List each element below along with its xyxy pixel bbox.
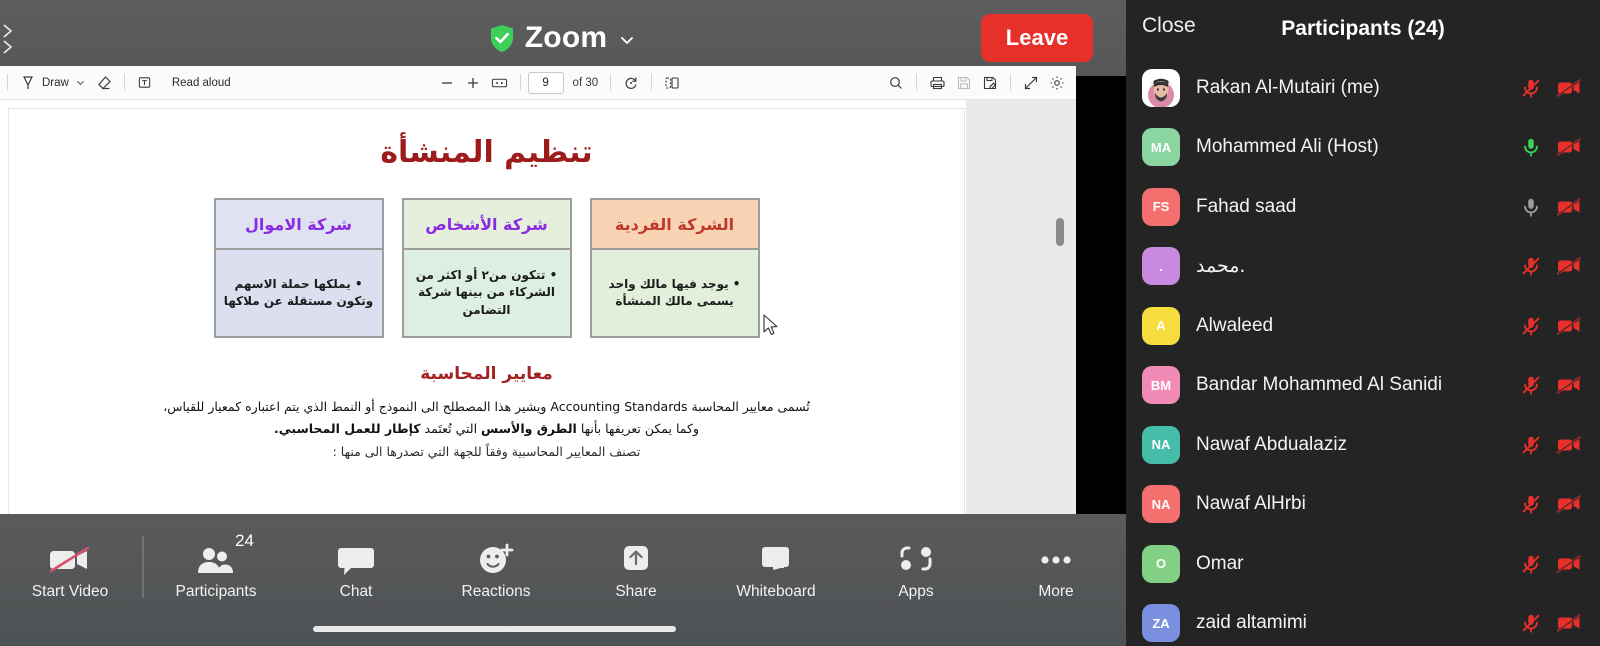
participant-list[interactable]: Rakan Al-Mutairi (me) MAMohammed Ali (Ho… bbox=[1126, 58, 1600, 646]
meeting-area: Zoom Leave Draw bbox=[0, 0, 1126, 646]
video-off-icon[interactable] bbox=[1556, 374, 1582, 396]
page-total-label: of 30 bbox=[573, 77, 599, 89]
home-indicator bbox=[313, 626, 676, 632]
participant-row[interactable]: OOmar bbox=[1126, 534, 1600, 594]
participant-status-icons bbox=[1520, 433, 1582, 457]
participants-button[interactable]: 24 Participants bbox=[146, 521, 286, 613]
draw-tool-label: Draw bbox=[42, 77, 69, 89]
print-button[interactable] bbox=[924, 70, 951, 96]
settings-button[interactable] bbox=[1044, 70, 1070, 96]
chevron-down-icon[interactable] bbox=[75, 77, 86, 88]
shared-screen-region: Draw Read aloud bbox=[0, 66, 1076, 514]
mic-muted-icon[interactable] bbox=[1520, 76, 1542, 100]
participant-row[interactable]: NANawaf AlHrbi bbox=[1126, 475, 1600, 535]
save-as-icon bbox=[982, 75, 998, 91]
avatar: A bbox=[1142, 307, 1180, 345]
participant-status-icons bbox=[1520, 314, 1582, 338]
participant-name: Omar bbox=[1196, 553, 1520, 575]
mic-muted-icon[interactable] bbox=[1520, 373, 1542, 397]
participant-row[interactable]: AAlwaleed bbox=[1126, 296, 1600, 356]
diagram-body: • يوجد فيها مالك واحد يسمى مالك المنشأة bbox=[590, 250, 760, 338]
mic-muted-icon[interactable] bbox=[1520, 611, 1542, 635]
toolbar-divider bbox=[520, 74, 521, 91]
toolbar-divider bbox=[1010, 74, 1011, 91]
zoom-meeting-screen: Zoom Leave Draw bbox=[0, 0, 1600, 646]
chat-label: Chat bbox=[340, 583, 373, 601]
meeting-title-group[interactable]: Zoom bbox=[0, 0, 1126, 76]
start-video-label: Start Video bbox=[32, 583, 108, 601]
mic-icon bbox=[1520, 433, 1542, 457]
video-off-icon bbox=[1556, 255, 1582, 277]
diagram-heading: شركة الأشخاص bbox=[402, 198, 572, 250]
mic-icon bbox=[1520, 492, 1542, 516]
save-button[interactable] bbox=[951, 70, 977, 96]
text-tool-button[interactable] bbox=[132, 70, 157, 96]
shield-check-icon bbox=[489, 24, 515, 53]
diagram-body-text: يوجد فيها مالك واحد يسمى مالك المنشأة bbox=[609, 277, 734, 308]
mic-icon bbox=[1520, 373, 1542, 397]
pdf-toolbar: Draw Read aloud bbox=[0, 66, 1076, 100]
participants-label: Participants bbox=[176, 583, 257, 601]
toolbar-divider bbox=[651, 74, 652, 91]
mic-muted-icon[interactable] bbox=[1520, 552, 1542, 576]
whiteboard-icon bbox=[755, 533, 797, 577]
more-label: More bbox=[1038, 583, 1073, 601]
chat-bubble-icon bbox=[335, 533, 377, 577]
mic-muted-icon[interactable] bbox=[1520, 314, 1542, 338]
apps-label: Apps bbox=[898, 583, 933, 601]
video-off-icon[interactable] bbox=[1556, 255, 1582, 277]
fit-width-button[interactable] bbox=[486, 70, 513, 96]
mic-icon bbox=[1520, 195, 1542, 219]
participant-name: Fahad saad bbox=[1196, 196, 1520, 218]
mic-muted-icon[interactable] bbox=[1520, 433, 1542, 457]
pdf-scrollbar-thumb[interactable] bbox=[1056, 218, 1064, 246]
toolbar-divider bbox=[916, 74, 917, 91]
expand-diagonal-icon bbox=[1023, 75, 1039, 91]
diagram-body: • تتكون من٢ أو اكثر من الشركاء من بينها … bbox=[402, 250, 572, 338]
avatar: FS bbox=[1142, 188, 1180, 226]
mic-icon bbox=[1520, 552, 1542, 576]
gear-icon bbox=[1049, 75, 1065, 91]
smiley-plus-icon bbox=[474, 533, 518, 577]
whiteboard-button[interactable]: Whiteboard bbox=[706, 521, 846, 613]
video-off-icon bbox=[1556, 434, 1582, 456]
mic-icon bbox=[1520, 76, 1542, 100]
meeting-title-text: Zoom bbox=[525, 21, 607, 55]
section-line-3: تصنف المعايير المحاسبية وفقاً للجهة التي… bbox=[57, 444, 916, 459]
meeting-control-bar: Start Video 24 Participants bbox=[0, 514, 1126, 646]
participant-status-icons bbox=[1520, 76, 1582, 100]
participant-name: zaid altamimi bbox=[1196, 612, 1520, 634]
apps-icon bbox=[896, 533, 936, 577]
video-off-icon bbox=[1556, 315, 1582, 337]
section-paragraph: تُسمى معايير المحاسبة Accounting Standar… bbox=[57, 396, 916, 440]
participant-row[interactable]: NANawaf Abdualaziz bbox=[1126, 415, 1600, 475]
mic-icon bbox=[1520, 135, 1542, 159]
diagram-column: شركة الأشخاص • تتكون من٢ أو اكثر من الشر… bbox=[402, 198, 572, 338]
video-off-icon bbox=[1556, 196, 1582, 218]
toolbar-divider bbox=[124, 74, 125, 91]
diagram-heading: شركة الاموال bbox=[214, 198, 384, 250]
video-off-icon bbox=[1556, 493, 1582, 515]
participants-panel-title: Participants (24) bbox=[1126, 17, 1600, 41]
participant-status-icons bbox=[1520, 135, 1582, 159]
eraser-icon bbox=[96, 75, 112, 91]
mic-icon bbox=[1520, 314, 1542, 338]
share-up-arrow-icon bbox=[616, 533, 656, 577]
mic-icon bbox=[1520, 254, 1542, 278]
meeting-control-bar-inner: Start Video 24 Participants bbox=[0, 514, 1126, 614]
participant-row[interactable]: FSFahad saad bbox=[1126, 177, 1600, 237]
video-off-icon[interactable] bbox=[1556, 553, 1582, 575]
participant-status-icons bbox=[1520, 552, 1582, 576]
participant-status-icons bbox=[1520, 195, 1582, 219]
section-line-2-prefix: وكما يمكن تعريفها بأنها bbox=[577, 421, 699, 436]
participant-status-icons bbox=[1520, 492, 1582, 516]
pdf-scrollbar[interactable] bbox=[1062, 100, 1070, 514]
video-off-icon bbox=[1556, 553, 1582, 575]
mic-icon bbox=[1520, 611, 1542, 635]
save-as-button[interactable] bbox=[977, 70, 1003, 96]
apps-button[interactable]: Apps bbox=[846, 521, 986, 613]
mic-on-icon[interactable] bbox=[1520, 195, 1542, 219]
mic-on-icon[interactable] bbox=[1520, 135, 1542, 159]
reactions-button[interactable]: Reactions bbox=[426, 521, 566, 613]
toolbar-divider bbox=[610, 74, 611, 91]
video-off-icon[interactable] bbox=[1556, 493, 1582, 515]
mic-muted-icon[interactable] bbox=[1520, 492, 1542, 516]
share-button[interactable]: Share bbox=[566, 521, 706, 613]
participant-row[interactable]: MAMohammed Ali (Host) bbox=[1126, 118, 1600, 178]
participant-status-icons bbox=[1520, 254, 1582, 278]
search-icon bbox=[888, 75, 904, 91]
video-off-icon bbox=[1556, 612, 1582, 634]
participant-row[interactable]: Rakan Al-Mutairi (me) bbox=[1126, 58, 1600, 118]
rotate-icon bbox=[623, 75, 639, 91]
page-layout-icon bbox=[664, 75, 680, 91]
mic-muted-icon[interactable] bbox=[1520, 254, 1542, 278]
avatar: O bbox=[1142, 545, 1180, 583]
avatar-photo bbox=[1142, 69, 1180, 107]
rotate-button[interactable] bbox=[618, 70, 644, 96]
zoom-out-button[interactable] bbox=[434, 70, 460, 96]
avatar: MA bbox=[1142, 128, 1180, 166]
chat-button[interactable]: Chat bbox=[286, 521, 426, 613]
participant-name: Bandar Mohammed Al Sanidi bbox=[1196, 374, 1520, 396]
participants-panel-header: Close Participants (24) bbox=[1126, 0, 1600, 58]
participant-status-icons bbox=[1520, 373, 1582, 397]
section-line-2-bold-2: كإطار للعمل المحاسبي. bbox=[274, 421, 421, 436]
mouse-cursor-icon bbox=[762, 314, 780, 338]
search-button[interactable] bbox=[883, 70, 909, 96]
close-panel-button[interactable]: Close bbox=[1142, 14, 1196, 38]
participant-name: Rakan Al-Mutairi (me) bbox=[1196, 77, 1520, 99]
document-title: تنظيم المنشأة bbox=[9, 135, 964, 170]
participant-name: .محمد bbox=[1196, 255, 1520, 277]
chevron-down-icon[interactable] bbox=[617, 30, 637, 50]
share-label: Share bbox=[615, 583, 656, 601]
avatar: . bbox=[1142, 247, 1180, 285]
diagram-body-text: تتكون من٢ أو اكثر من الشركاء من بينها شر… bbox=[416, 268, 555, 317]
page-number-input[interactable]: 9 bbox=[528, 72, 564, 94]
participants-count-badge: 24 bbox=[235, 531, 254, 551]
read-aloud-button[interactable]: Read aloud bbox=[167, 70, 236, 96]
diagram-column: شركة الاموال • يملكها حملة الاسهم وتكون … bbox=[214, 198, 384, 338]
text-box-icon bbox=[137, 75, 152, 90]
draw-tool-button[interactable]: Draw bbox=[15, 70, 91, 96]
fit-width-icon bbox=[491, 76, 508, 90]
video-off-icon[interactable] bbox=[1556, 434, 1582, 456]
page-layout-button[interactable] bbox=[659, 70, 685, 96]
leave-button[interactable]: Leave bbox=[981, 14, 1093, 62]
section-line-1: تُسمى معايير المحاسبة Accounting Standar… bbox=[163, 399, 810, 414]
video-off-icon[interactable] bbox=[1556, 136, 1582, 158]
save-icon bbox=[956, 75, 972, 91]
section-line-2-mid: التي تُعتَمد bbox=[421, 421, 481, 436]
video-off-icon bbox=[1556, 374, 1582, 396]
participant-row[interactable]: BMBandar Mohammed Al Sanidi bbox=[1126, 356, 1600, 416]
participants-panel: Close Participants (24) Rakan Al-Mutairi… bbox=[1126, 0, 1600, 646]
meeting-top-bar: Zoom Leave bbox=[0, 0, 1126, 76]
participant-row[interactable]: ..محمد bbox=[1126, 237, 1600, 297]
video-off-icon bbox=[1556, 136, 1582, 158]
video-off-icon bbox=[1556, 77, 1582, 99]
participant-name: Alwaleed bbox=[1196, 315, 1520, 337]
zoom-in-button[interactable] bbox=[460, 70, 486, 96]
video-off-icon[interactable] bbox=[1556, 196, 1582, 218]
whiteboard-label: Whiteboard bbox=[736, 583, 815, 601]
participant-name: Mohammed Ali (Host) bbox=[1196, 136, 1520, 158]
video-off-icon[interactable] bbox=[1556, 77, 1582, 99]
company-types-diagram: الشركة الفردية • يوجد فيها مالك واحد يسم… bbox=[9, 198, 964, 338]
pdf-page-canvas: تنظيم المنشأة الشركة الفردية • يوجد فيها… bbox=[8, 108, 965, 514]
avatar: ZA bbox=[1142, 604, 1180, 642]
reactions-label: Reactions bbox=[462, 583, 531, 601]
plus-icon bbox=[465, 75, 481, 91]
section-heading: معايير المحاسبة bbox=[9, 364, 964, 384]
people-icon: 24 bbox=[194, 533, 238, 577]
print-icon bbox=[929, 75, 946, 91]
participant-status-icons bbox=[1520, 611, 1582, 635]
pdf-gutter bbox=[966, 100, 1076, 514]
minus-icon bbox=[439, 75, 455, 91]
avatar: NA bbox=[1142, 485, 1180, 523]
read-aloud-label: Read aloud bbox=[172, 77, 231, 89]
participant-row[interactable]: ZAzaid altamimi bbox=[1126, 594, 1600, 646]
avatar bbox=[1142, 69, 1180, 107]
video-off-icon[interactable] bbox=[1556, 612, 1582, 634]
pen-icon bbox=[20, 75, 36, 91]
start-video-button[interactable]: Start Video bbox=[0, 521, 140, 613]
diagram-heading: الشركة الفردية bbox=[590, 198, 760, 250]
more-button[interactable]: More bbox=[986, 521, 1126, 613]
section-line-2-bold-1: الطرق والأسس bbox=[481, 421, 577, 436]
participant-name: Nawaf Abdualaziz bbox=[1196, 434, 1520, 456]
expand-button[interactable] bbox=[1018, 70, 1044, 96]
control-divider bbox=[142, 536, 144, 598]
diagram-body: • يملكها حملة الاسهم وتكون مستقلة عن ملا… bbox=[214, 250, 384, 338]
more-dots-icon bbox=[1035, 533, 1077, 577]
participant-name: Nawaf AlHrbi bbox=[1196, 493, 1520, 515]
toolbar-divider bbox=[7, 74, 8, 91]
video-off-icon bbox=[46, 533, 94, 577]
video-off-icon[interactable] bbox=[1556, 315, 1582, 337]
avatar: BM bbox=[1142, 366, 1180, 404]
diagram-column: الشركة الفردية • يوجد فيها مالك واحد يسم… bbox=[590, 198, 760, 338]
eraser-tool-button[interactable] bbox=[91, 70, 117, 96]
avatar: NA bbox=[1142, 426, 1180, 464]
